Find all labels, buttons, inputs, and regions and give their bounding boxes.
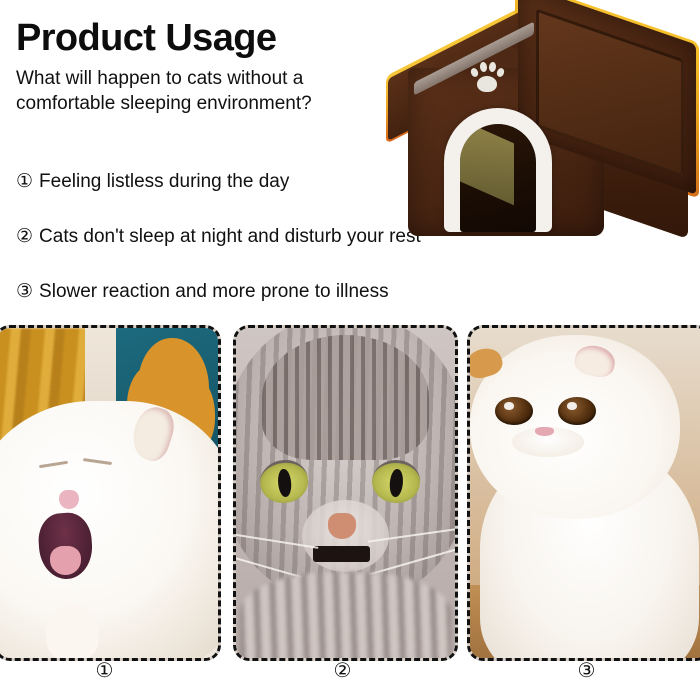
photo2-forehead-stripes [262, 335, 428, 460]
door-opening [460, 124, 536, 232]
usage-text-1: Feeling listless during the day [39, 170, 289, 194]
photo1-cat-body [0, 401, 218, 658]
photo3-eye-right [558, 397, 596, 425]
cat-house-illustration [386, 8, 700, 248]
usage-marker-3: ③ [16, 280, 33, 304]
header-block: Product Usage What will happen to cats w… [16, 16, 416, 116]
photo-exotic-shorthair-cat [470, 328, 700, 658]
photo-panel-3 [467, 325, 700, 661]
photo-grey-tabby-cat [236, 328, 455, 658]
photo2-pupil-left [277, 468, 292, 497]
paw-toe-1 [470, 67, 480, 78]
paw-print-icon [470, 62, 504, 94]
photo-panel-row [0, 325, 700, 655]
paw-toe-3 [488, 62, 496, 73]
panel-captions: ① ② ③ [0, 658, 700, 700]
paw-toe-2 [479, 62, 487, 73]
photo-white-yawning-cat [0, 328, 218, 658]
usage-item-1: ① Feeling listless during the day [16, 170, 446, 194]
page-title: Product Usage [16, 16, 416, 60]
photo1-front-paw [46, 605, 99, 658]
photo3-eye-left [495, 397, 533, 425]
paw-toe-4 [496, 67, 506, 78]
photo3-eye-glint-left [504, 402, 514, 409]
page-subtitle: What will happen to cats without a comfo… [16, 66, 376, 116]
panel-caption-2: ② [233, 658, 452, 684]
usage-item-3: ③ Slower reaction and more prone to illn… [16, 280, 446, 304]
product-photo-cat-house [386, 8, 700, 248]
photo2-frowning-mouth [313, 546, 370, 563]
usage-text-2: Cats don't sleep at night and disturb yo… [39, 225, 421, 249]
usage-marker-2: ② [16, 225, 33, 249]
photo2-chest-fur [240, 572, 450, 658]
usage-list: ① Feeling listless during the day ② Cats… [16, 170, 446, 335]
paw-pad [477, 76, 497, 92]
interior-floor [460, 124, 514, 205]
panel-caption-3: ③ [467, 658, 700, 684]
usage-text-3: Slower reaction and more prone to illnes… [39, 280, 389, 304]
photo-panel-1 [0, 325, 221, 661]
panel-caption-1: ① [0, 658, 215, 684]
photo2-pupil-right [389, 468, 404, 497]
usage-item-2: ② Cats don't sleep at night and disturb … [16, 225, 446, 249]
photo-panel-2 [233, 325, 458, 661]
photo3-eye-glint-right [567, 402, 577, 409]
usage-marker-1: ① [16, 170, 33, 194]
photo3-cat-head [470, 335, 680, 520]
